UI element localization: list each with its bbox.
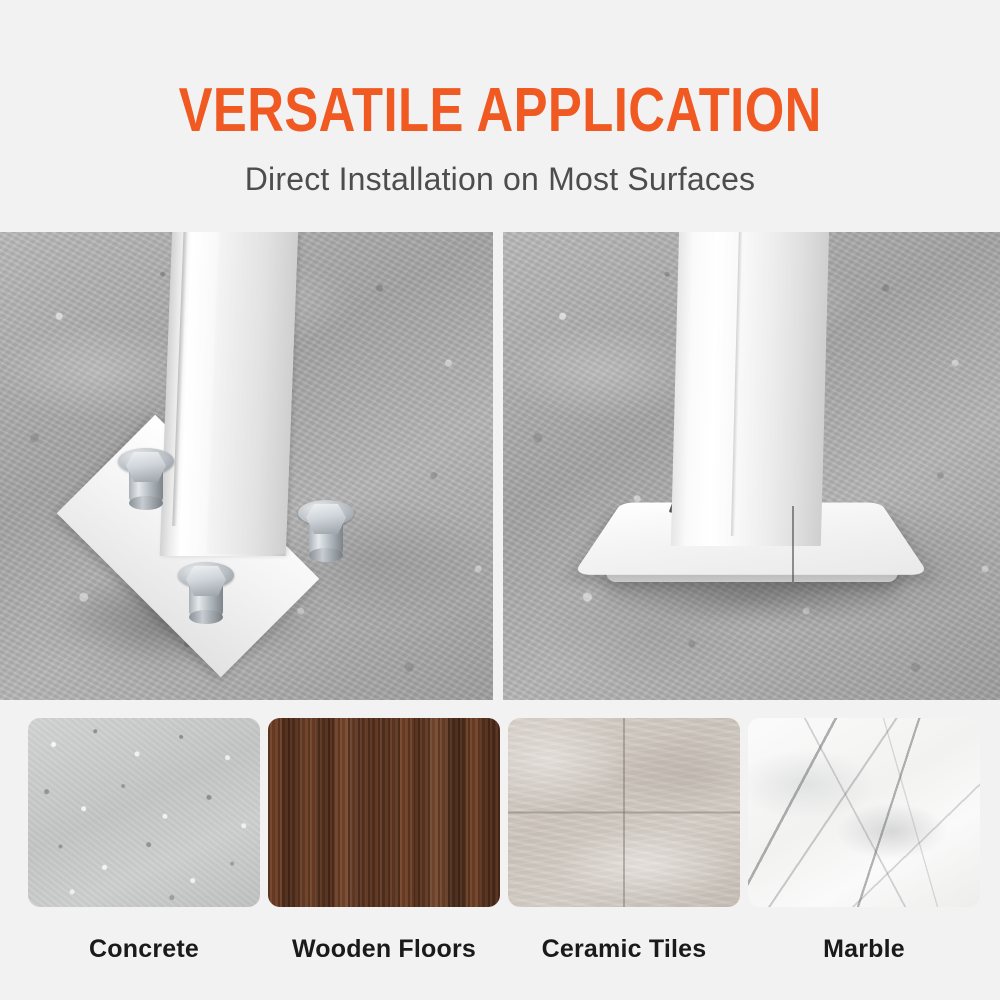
concrete-swatch-image	[28, 718, 260, 907]
surface-swatch-strip: Concrete Wooden Floors Ceramic Tiles Mar…	[0, 718, 1000, 1000]
photo-band	[0, 232, 1000, 700]
bolt-hex-head	[186, 566, 226, 596]
bolt-shank-bottom	[129, 496, 163, 510]
anchor-bolt-icon	[298, 500, 354, 562]
surface-label: Concrete	[28, 935, 260, 964]
photo-post-base-with-anchor-bolts	[0, 232, 493, 700]
page-title: VERSATILE APPLICATION	[178, 80, 821, 142]
surface-label: Marble	[748, 935, 980, 964]
post-column	[671, 232, 829, 546]
surface-item-marble: Marble	[748, 718, 980, 964]
surface-label: Ceramic Tiles	[508, 935, 740, 964]
base-cover-seam	[792, 506, 794, 582]
marble-swatch-image	[748, 718, 980, 907]
wood-swatch-image	[268, 718, 500, 907]
bolt-hex-head	[126, 452, 166, 482]
tile-swatch-image	[508, 718, 740, 907]
photo-post-base-with-cover	[503, 232, 1000, 700]
surface-label: Wooden Floors	[268, 935, 500, 964]
bolt-shank-bottom	[309, 548, 343, 562]
product-feature-page: VERSATILE APPLICATION Direct Installatio…	[0, 0, 1000, 1000]
surface-item-wooden-floors: Wooden Floors	[268, 718, 500, 964]
bolt-hex-head	[306, 504, 346, 534]
bolt-shank-bottom	[189, 610, 223, 624]
page-subtitle: Direct Installation on Most Surfaces	[245, 161, 756, 197]
post-front-face	[207, 232, 299, 554]
surface-item-ceramic-tiles: Ceramic Tiles	[508, 718, 740, 964]
surface-item-concrete: Concrete	[28, 718, 260, 964]
anchor-bolt-icon	[118, 448, 174, 510]
anchor-bolt-icon	[178, 562, 234, 624]
header: VERSATILE APPLICATION Direct Installatio…	[0, 0, 1000, 232]
